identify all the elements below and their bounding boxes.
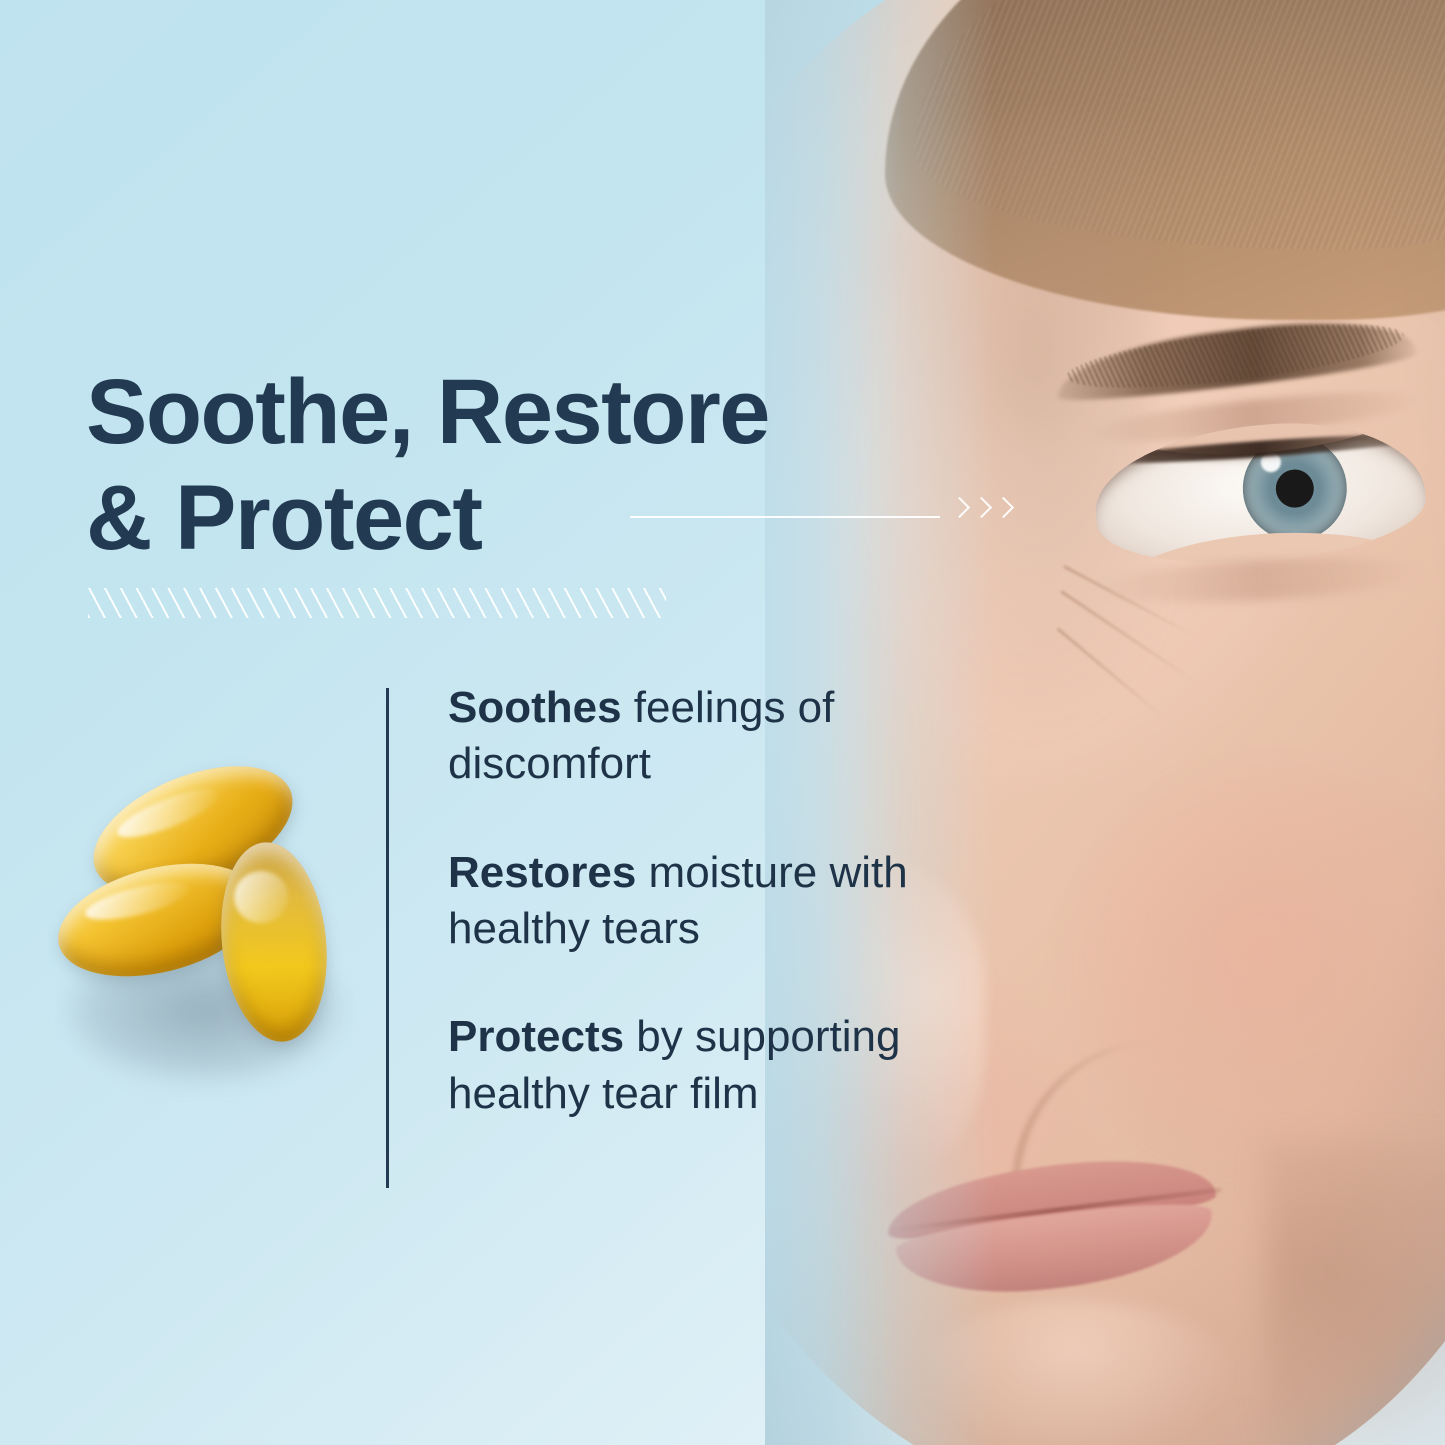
- capsule-highlight: [82, 875, 192, 927]
- benefit-item-2: Restores moisture with healthy tears: [448, 845, 1046, 958]
- benefit-item-1: Soothes feelings of discomfort: [448, 680, 1046, 793]
- benefit-2-strong: Restores: [448, 848, 636, 897]
- benefits-list: Soothes feelings of discomfort Restores …: [386, 680, 1046, 1122]
- chevron-right-icon-2: [971, 497, 992, 518]
- arrow-line: [630, 516, 940, 518]
- headline-line-1: Soothe, Restore: [86, 361, 769, 463]
- promo-canvas: Soothe, Restore & Protect Soothes feelin…: [0, 0, 1445, 1445]
- benefits-vertical-rule: [386, 688, 389, 1188]
- softgel-capsules: [40, 760, 380, 1140]
- benefit-item-3: Protects by supporting healthy tear film: [448, 1009, 1046, 1122]
- chevron-right-icon-1: [949, 497, 970, 518]
- chevron-right-icon: [952, 500, 1011, 515]
- hatch-divider: [88, 588, 666, 618]
- capsule-highlight: [112, 780, 224, 847]
- headline-line-2: & Protect: [86, 466, 906, 572]
- benefit-1-strong: Soothes: [448, 683, 622, 732]
- chevron-right-icon-3: [993, 497, 1014, 518]
- headline: Soothe, Restore & Protect: [86, 360, 906, 572]
- benefit-3-strong: Protects: [448, 1012, 624, 1061]
- capsule-highlight: [231, 868, 290, 925]
